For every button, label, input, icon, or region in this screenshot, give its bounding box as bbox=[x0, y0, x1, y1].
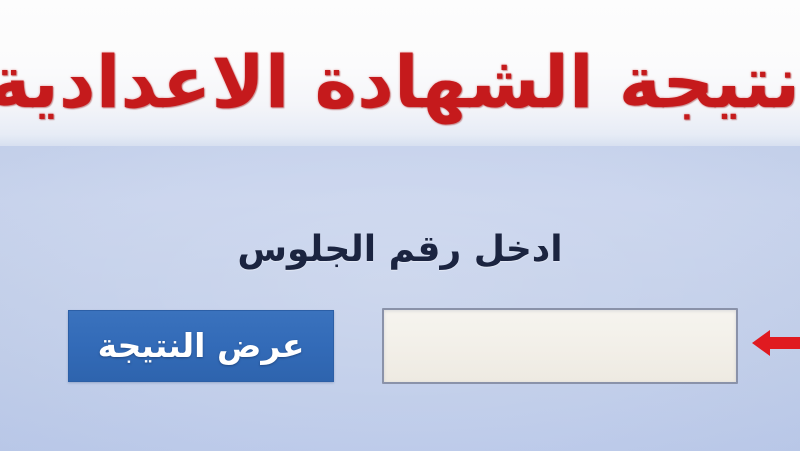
page-title: نتيجة الشهادة الاعدادية bbox=[0, 33, 800, 131]
lookup-form: عرض النتيجة bbox=[0, 308, 800, 388]
show-result-button[interactable]: عرض النتيجة bbox=[68, 310, 334, 382]
seat-number-input[interactable] bbox=[382, 308, 738, 384]
arrow-left-icon bbox=[750, 326, 800, 360]
result-lookup-page: نتيجة الشهادة الاعدادية ادخل رقم الجلوس … bbox=[0, 0, 800, 451]
page-background-bottom bbox=[0, 146, 800, 451]
seat-number-label: ادخل رقم الجلوس bbox=[0, 222, 800, 278]
show-result-button-label: عرض النتيجة bbox=[98, 326, 305, 366]
